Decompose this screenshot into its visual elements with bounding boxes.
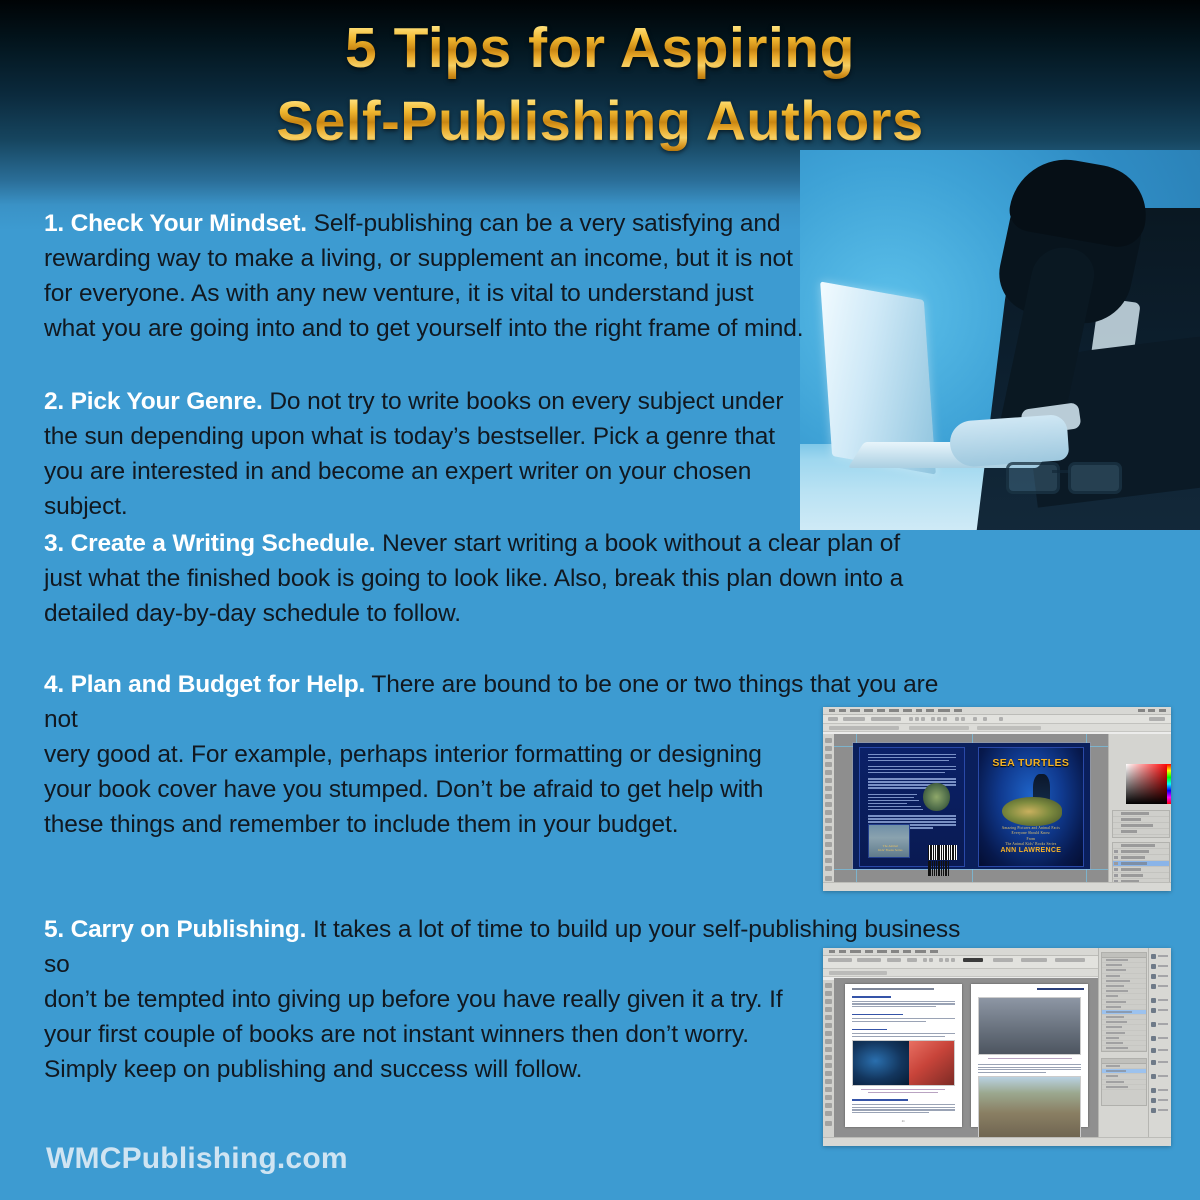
wand-tool-icon[interactable] <box>825 754 832 759</box>
cover-subtitle-line-3: From <box>1027 837 1036 841</box>
screenshot-book-interior-app[interactable]: 24 <box>823 948 1171 1146</box>
status-bar <box>823 1137 1171 1146</box>
app-menu-bar[interactable] <box>823 707 1171 715</box>
arrange-icon[interactable] <box>973 717 977 721</box>
eyeglass-lens-left <box>1006 462 1060 494</box>
running-header-right <box>1037 988 1084 989</box>
properties-row[interactable] <box>1113 829 1169 835</box>
figure-caption <box>868 1092 938 1093</box>
pencil-tool-icon[interactable] <box>825 1039 832 1044</box>
hue-strip-slider[interactable] <box>1167 764 1171 804</box>
series-line-1: The Animal <box>883 844 898 848</box>
tip-5-body-rest: don’t be tempted into giving up before y… <box>44 986 783 1083</box>
text-frame-options[interactable] <box>1055 958 1085 962</box>
status-bar <box>823 882 1171 891</box>
paragraph-style-dropdown[interactable] <box>828 958 852 962</box>
eraser-tool-icon[interactable] <box>825 810 832 815</box>
menu-item-object[interactable] <box>877 950 887 953</box>
rectangle-frame-tool-icon[interactable] <box>825 1047 832 1052</box>
menu-item-image[interactable] <box>850 709 860 712</box>
tip-item-3: 3. Create a Writing Schedule. Never star… <box>44 526 919 631</box>
crab-photo <box>909 1041 954 1085</box>
window-maximize-icon[interactable] <box>1148 709 1155 712</box>
menu-item-layer[interactable] <box>864 709 873 712</box>
menu-item-table[interactable] <box>891 950 899 953</box>
history-brush-icon[interactable] <box>825 802 832 807</box>
stamp-tool-icon[interactable] <box>825 794 832 799</box>
figure-caption <box>988 1058 1072 1059</box>
links-panel-icon[interactable] <box>1151 974 1169 980</box>
scissors-tool-icon[interactable] <box>825 1063 832 1068</box>
align-right-icon[interactable] <box>951 958 955 962</box>
app-options-bar[interactable] <box>823 715 1171 724</box>
turtle-photo-top <box>978 997 1081 1055</box>
fill-stroke-swatch[interactable] <box>825 1121 832 1126</box>
gap-tool-icon[interactable] <box>825 1007 832 1012</box>
line-tool-icon[interactable] <box>825 1023 832 1028</box>
character-styles-panel[interactable] <box>1101 1058 1147 1106</box>
menu-item-view[interactable] <box>903 950 911 953</box>
object-style-dropdown[interactable] <box>1021 958 1047 962</box>
cover-author-name: ANN LAWRENCE <box>979 847 1083 854</box>
cover-document-canvas[interactable]: The Animal Kids’ Books Series SEA TURTLE… <box>834 734 1109 882</box>
section-heading <box>852 1014 903 1015</box>
cover-subtitle-line-4: The Animal Kids’ Books Series <box>1005 842 1056 846</box>
tool-mode-dropdown[interactable] <box>871 717 901 721</box>
cover-sea-turtle-image <box>1002 797 1062 825</box>
index-panel-icon[interactable] <box>1151 1098 1169 1104</box>
window-close-icon[interactable] <box>1159 709 1166 712</box>
char-style-row[interactable] <box>1102 1085 1146 1090</box>
document-tab-cover[interactable] <box>829 726 899 730</box>
figure-caption <box>861 1089 945 1090</box>
page-left[interactable]: 24 <box>845 984 962 1127</box>
align-right-icon[interactable] <box>921 717 925 721</box>
leading-field[interactable] <box>907 958 917 962</box>
layout-document-canvas[interactable]: 24 <box>834 978 1099 1137</box>
path-select-icon[interactable] <box>825 858 832 863</box>
cover-artboard[interactable]: The Animal Kids’ Books Series SEA TURTLE… <box>853 743 1090 869</box>
color-picker-shade-overlay <box>1126 764 1168 804</box>
footer-website: WMCPublishing.com <box>46 1142 348 1176</box>
fill-color-swatch[interactable] <box>993 958 1013 962</box>
stroke-panel-icon[interactable] <box>1151 998 1169 1004</box>
document-tab-bar[interactable] <box>823 724 1171 732</box>
menu-item-type[interactable] <box>877 709 885 712</box>
font-size-field[interactable] <box>887 958 901 962</box>
zoom-tool-icon[interactable] <box>825 1111 832 1116</box>
italic-icon[interactable] <box>929 958 933 962</box>
document-tab-spine[interactable] <box>977 726 1041 730</box>
paragraph-styles-panel[interactable] <box>1101 952 1147 1052</box>
running-header-left <box>852 988 934 989</box>
zoom-tool-icon[interactable] <box>999 717 1003 721</box>
cover-subtitle-line-2: Everyone Should Know <box>1012 831 1051 835</box>
jellyfish-photo <box>853 1041 909 1085</box>
title-line-2: Self-Publishing Authors <box>0 91 1200 151</box>
tip-item-4: 4. Plan and Budget for Help. There are b… <box>44 667 949 842</box>
color-panel-icon[interactable] <box>1151 1008 1169 1014</box>
menu-item-file[interactable] <box>829 950 835 953</box>
section-heading <box>852 1099 908 1100</box>
tool-move-icon[interactable] <box>828 717 838 721</box>
crop-tool-icon[interactable] <box>825 762 832 767</box>
tip-item-1: 1. Check Your Mindset. Self-publishing c… <box>44 206 804 346</box>
tip-1-lead: 1. Check Your Mindset. <box>44 210 307 237</box>
stroke-weight-swatch[interactable] <box>963 958 983 962</box>
menu-item-3d[interactable] <box>916 709 922 712</box>
hyperlinks-panel-icon[interactable] <box>1151 1060 1169 1066</box>
section-heading <box>852 1029 887 1030</box>
blur-tool-icon[interactable] <box>825 826 832 831</box>
color-picker-field[interactable] <box>1126 764 1168 804</box>
free-transform-tool-icon[interactable] <box>825 1071 832 1076</box>
title-line-1: 5 Tips for Aspiring <box>0 18 1200 79</box>
hero-photo-man-at-laptop <box>800 150 1200 530</box>
brush-tool-icon[interactable] <box>825 786 832 791</box>
note-tool-icon[interactable] <box>825 1087 832 1092</box>
menu-item-edit[interactable] <box>839 709 846 712</box>
menu-item-type[interactable] <box>865 950 873 953</box>
right-panel-dock[interactable] <box>1108 734 1171 882</box>
tip-4-lead: 4. Plan and Budget for Help. <box>44 671 365 698</box>
direct-selection-tool-icon[interactable] <box>825 991 832 996</box>
menu-item-view[interactable] <box>926 709 934 712</box>
document-tab-interior[interactable] <box>909 726 969 730</box>
align-center-icon[interactable] <box>945 958 949 962</box>
eyedropper-tool-icon[interactable] <box>825 770 832 775</box>
cover-title: SEA TURTLES <box>979 757 1083 769</box>
menu-item-window[interactable] <box>915 950 926 953</box>
notes-panel-icon[interactable] <box>1151 1108 1169 1114</box>
tool-preset-picker[interactable] <box>843 717 865 721</box>
menu-item-edit[interactable] <box>839 950 846 953</box>
cover-subtitle-line-1: Amazing Pictures and Animal Facts <box>1002 826 1060 830</box>
collapsed-panel-icon-column[interactable] <box>1148 948 1171 1146</box>
eyeglass-lens-right <box>1068 462 1122 494</box>
rectangle-tool-icon[interactable] <box>825 1055 832 1060</box>
tip-5-lead: 5. Carry on Publishing. <box>44 916 306 943</box>
infographic-canvas: 5 Tips for Aspiring Self-Publishing Auth… <box>0 0 1200 1200</box>
font-family-dropdown[interactable] <box>857 958 881 962</box>
cover-subtitle: Amazing Pictures and Animal Facts Everyo… <box>979 826 1083 848</box>
effects-panel-icon[interactable] <box>1151 1022 1169 1028</box>
foreground-color-swatch[interactable] <box>825 876 832 881</box>
panel-dock-column[interactable] <box>1098 948 1149 1146</box>
align-left-icon[interactable] <box>939 958 943 962</box>
menu-item-filter[interactable] <box>903 709 912 712</box>
back-cover-panel[interactable]: The Animal Kids’ Books Series <box>859 747 965 867</box>
pen-tool-icon[interactable] <box>825 842 832 847</box>
front-cover-panel[interactable]: SEA TURTLES Amazing Pictures and Animal … <box>978 747 1084 867</box>
rotate-view-icon[interactable] <box>983 717 987 721</box>
object-states-panel-icon[interactable] <box>1151 1036 1169 1042</box>
beach-turtles-photo <box>978 1076 1081 1140</box>
properties-panel[interactable] <box>1112 810 1170 838</box>
window-minimize-icon[interactable] <box>1138 709 1145 712</box>
distribute-top-icon[interactable] <box>931 717 935 721</box>
eyeglasses-icon <box>1006 462 1124 490</box>
eyedropper-tool-icon[interactable] <box>825 1095 832 1100</box>
man-hand <box>949 414 1070 468</box>
scripts-panel-icon[interactable] <box>1151 1048 1169 1054</box>
healing-tool-icon[interactable] <box>825 778 832 783</box>
distribute-bottom-icon[interactable] <box>943 717 947 721</box>
pages-panel-icon[interactable] <box>1151 954 1169 960</box>
auto-select-icon[interactable] <box>955 717 959 721</box>
menu-item-layout[interactable] <box>850 950 861 953</box>
menu-item-select[interactable] <box>889 709 899 712</box>
shape-tool-icon[interactable] <box>825 866 832 871</box>
gradient-tool-icon[interactable] <box>825 818 832 823</box>
back-cover-series-label: The Animal Kids’ Books Series <box>875 844 906 853</box>
tip-2-lead: 2. Pick Your Genre. <box>44 388 263 415</box>
pen-tool-icon[interactable] <box>825 1031 832 1036</box>
document-tab-interior[interactable] <box>829 971 887 975</box>
layers-panel-icon[interactable] <box>1151 964 1169 970</box>
menu-item-help[interactable] <box>954 709 962 712</box>
gradient-swatch-tool-icon[interactable] <box>825 1079 832 1084</box>
page-right[interactable] <box>971 984 1088 1127</box>
menu-item-window[interactable] <box>938 709 950 712</box>
tip-3-lead: 3. Create a Writing Schedule. <box>44 530 375 557</box>
distribute-middle-icon[interactable] <box>937 717 941 721</box>
tip-4-body-rest: very good at. For example, perhaps inter… <box>44 741 763 838</box>
page-title: 5 Tips for Aspiring Self-Publishing Auth… <box>0 18 1200 151</box>
lasso-tool-icon[interactable] <box>825 746 832 751</box>
page-spread[interactable]: 24 <box>845 984 1089 1127</box>
workspace-switcher[interactable] <box>1149 717 1165 721</box>
dodge-tool-icon[interactable] <box>825 834 832 839</box>
text-wrap-panel-icon[interactable] <box>1151 1074 1169 1080</box>
selection-tool-icon[interactable] <box>825 983 832 988</box>
align-left-icon[interactable] <box>909 717 913 721</box>
figure-image-pair <box>852 1040 955 1086</box>
tip-item-2: 2. Pick Your Genre. Do not try to write … <box>44 384 789 524</box>
show-transform-icon[interactable] <box>961 717 965 721</box>
back-cover-turtle-image <box>923 783 950 811</box>
page-tool-icon[interactable] <box>825 999 832 1004</box>
isbn-barcode <box>928 845 957 860</box>
style-row[interactable] <box>1102 1046 1146 1051</box>
layers-panel[interactable] <box>1112 842 1170 886</box>
section-heading <box>852 996 892 997</box>
menu-item-help[interactable] <box>930 950 938 953</box>
page-number: 24 <box>845 1120 962 1123</box>
screenshot-book-cover-app[interactable]: The Animal Kids’ Books Series SEA TURTLE… <box>823 707 1171 891</box>
marquee-tool-icon[interactable] <box>825 738 832 743</box>
bold-icon[interactable] <box>923 958 927 962</box>
toc-panel-icon[interactable] <box>1151 984 1169 990</box>
align-center-icon[interactable] <box>915 717 919 721</box>
hand-tool-icon[interactable] <box>825 1103 832 1108</box>
type-tool-icon[interactable] <box>825 850 832 855</box>
type-tool-icon[interactable] <box>825 1015 832 1020</box>
menu-item-file[interactable] <box>829 709 835 712</box>
series-line-2: Kids’ Books Series <box>878 848 902 852</box>
info-panel-icon[interactable] <box>1151 1088 1169 1094</box>
